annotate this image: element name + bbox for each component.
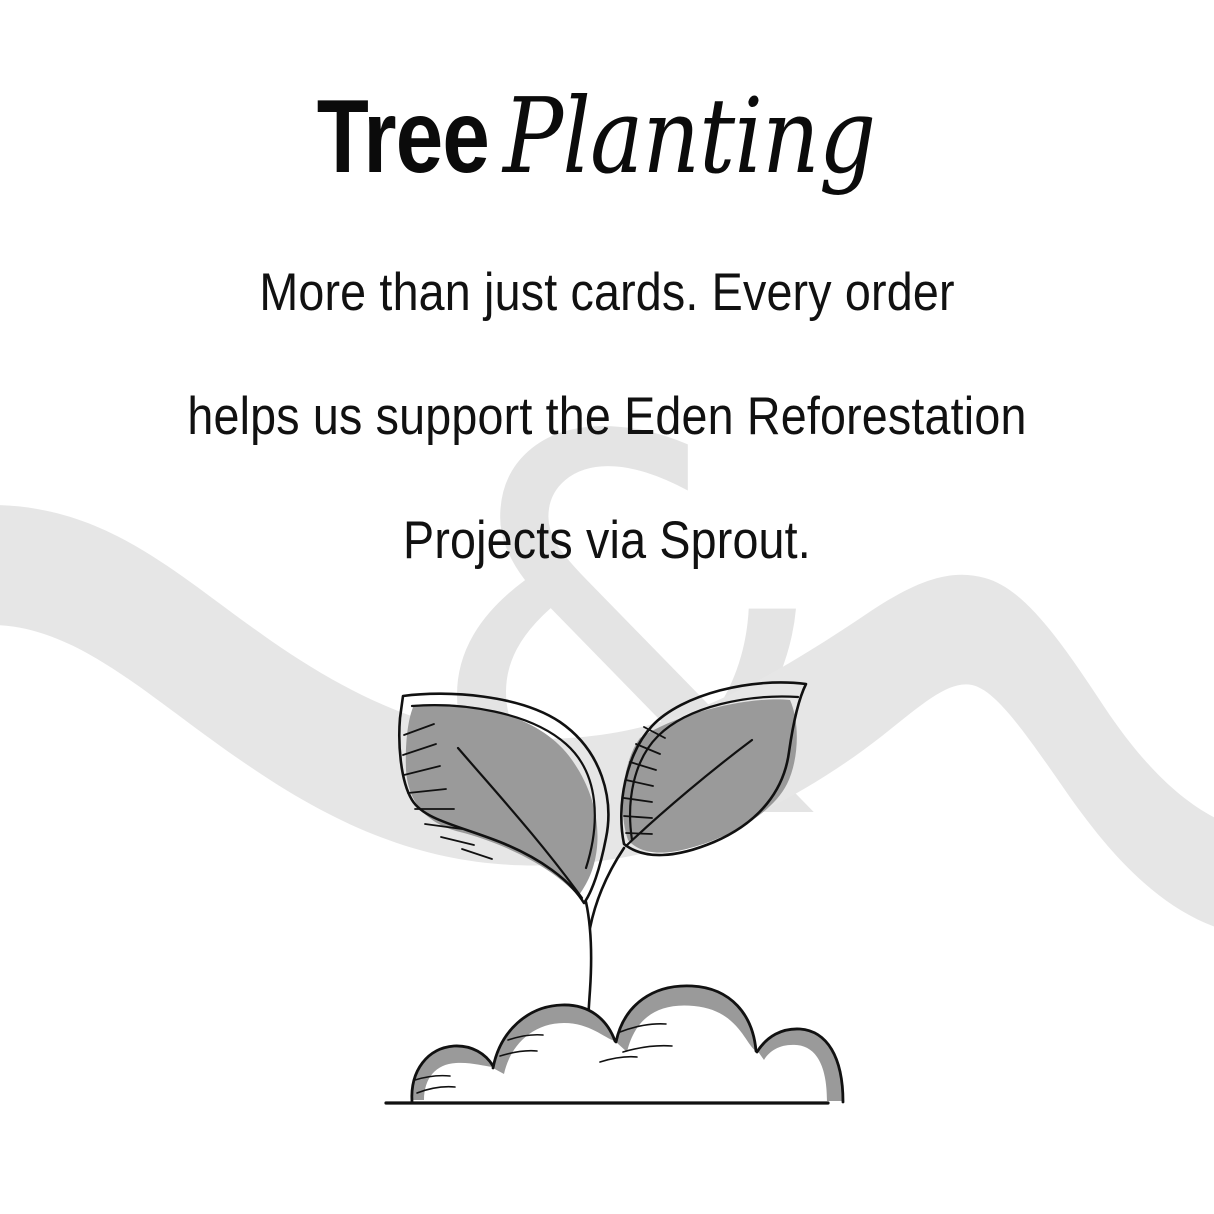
subtitle-line-2: helps us support the Eden Reforestation [73,355,1141,479]
soil-texture-ticks [415,1024,672,1093]
leaf-left-hatch-marks [403,724,492,859]
soil-mound-outline-2 [493,1005,615,1068]
soil-bump-shade-2 [493,1005,615,1074]
leaf-right-inner-edge [630,697,798,840]
leaf-right-hatch-marks [624,727,665,834]
subtitle-paragraph: More than just cards. Every order helps … [0,189,1214,603]
tree-planting-promo-card: & TreePlanting More than just cards. Eve… [0,0,1214,1214]
soil-mound-outline-3 [616,986,756,1051]
title-word-primary: Tree [316,85,488,189]
leaf-left [399,694,608,903]
leaf-right-outline [621,682,806,855]
soil-mound-outline [412,1046,493,1102]
leaf-right [621,682,806,855]
stem-main [586,902,591,1055]
leaf-left-outline [399,694,608,903]
subtitle-line-1: More than just cards. Every order [73,231,1141,355]
soil-bump-shade-1 [413,1046,493,1100]
leaf-left-fill [406,704,598,896]
text-block: TreePlanting More than just cards. Every… [0,0,1214,603]
soil-mound-body [412,986,842,1102]
subtitle-line-3: Projects via Sprout. [73,479,1141,603]
leaf-right-vein [626,740,752,846]
stem [586,848,624,1055]
leaf-left-vein [458,748,582,898]
soil-mound-outline-4 [757,1029,843,1102]
leaf-right-fill [623,699,797,852]
page-title: TreePlanting [0,0,1214,189]
stem-branch-right [590,848,624,928]
soil-bump-shade-4 [757,1029,843,1101]
soil-mound [412,986,843,1102]
title-word-accent: Planting [503,84,875,188]
soil-bump-shade-3 [616,986,756,1052]
leaf-left-inner-edge [412,705,595,868]
